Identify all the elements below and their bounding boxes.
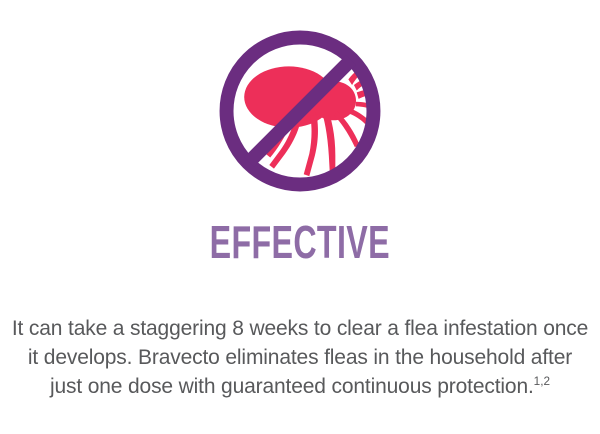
claim-paragraph: It can take a staggering 8 weeks to clea… xyxy=(10,314,590,401)
claim-text: It can take a staggering 8 weeks to clea… xyxy=(12,317,588,398)
body-container: It can take a staggering 8 weeks to clea… xyxy=(10,314,590,401)
footnote-reference: 1,2 xyxy=(534,375,550,388)
icon-container xyxy=(0,18,600,204)
effective-claim-card: EFFECTIVE It can take a staggering 8 wee… xyxy=(0,0,600,434)
page-title: EFFECTIVE xyxy=(210,216,390,268)
no-flea-prohibition-icon xyxy=(207,18,393,204)
heading-container: EFFECTIVE xyxy=(0,216,600,268)
